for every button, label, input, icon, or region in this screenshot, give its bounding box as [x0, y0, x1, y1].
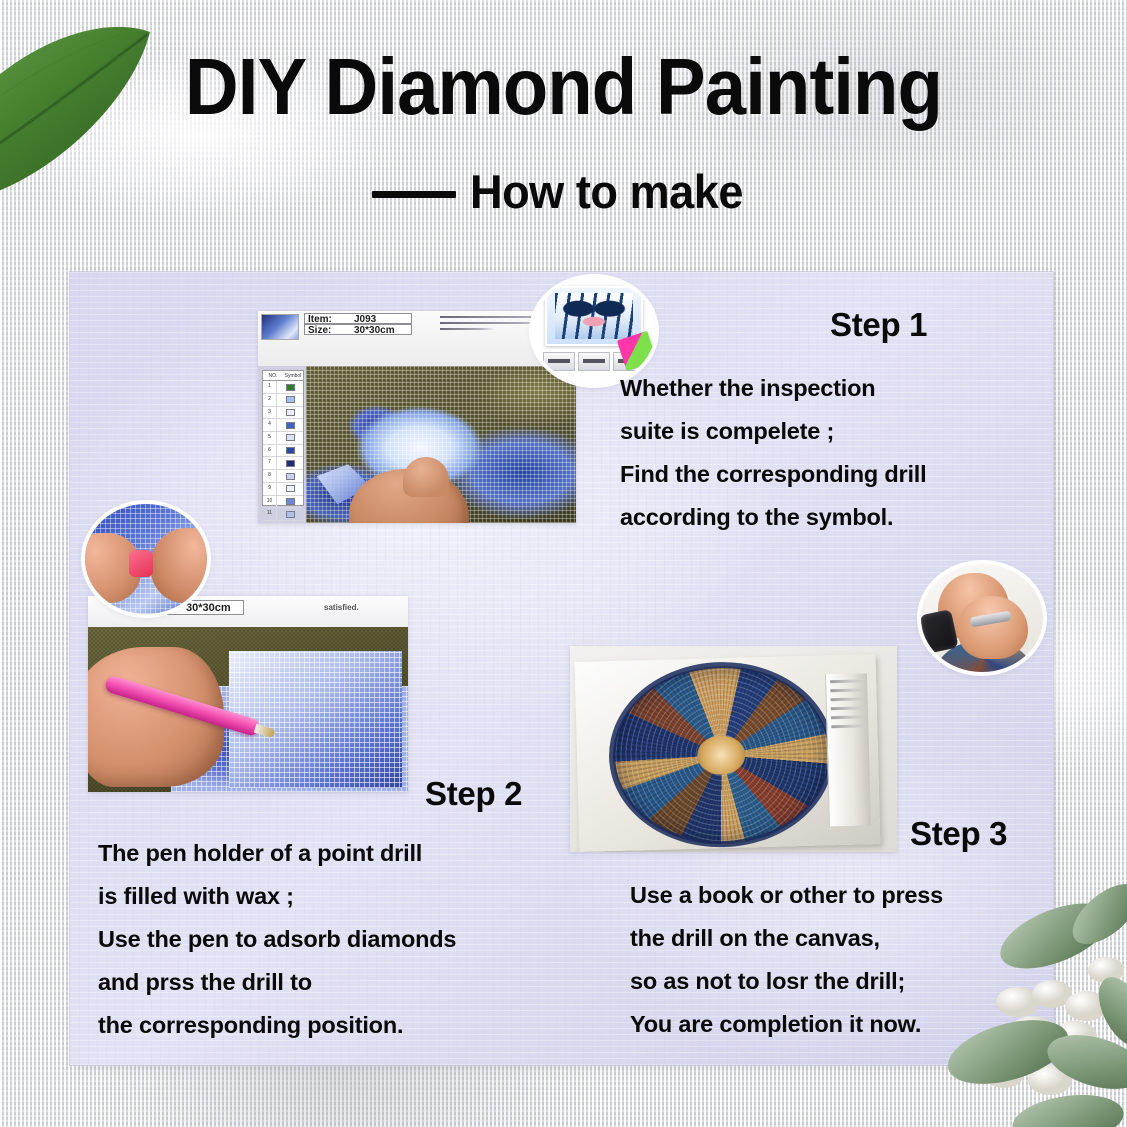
step-2-body: The pen holder of a point drill is fille… — [98, 832, 456, 1047]
step-1-line-1: Whether the inspection — [620, 367, 926, 410]
step-2-line-2: is filled with wax ; — [98, 875, 456, 918]
photo2-note: satisfied. — [324, 604, 359, 612]
photo-pen-on-canvas: Size: 30*30cm satisfied. — [88, 596, 408, 792]
step-3-line-4: You are completion it now. — [630, 1003, 943, 1046]
legend-row: 5 — [263, 432, 303, 445]
legend-row: 4 — [263, 419, 303, 432]
legend-index: 4 — [263, 419, 277, 431]
inset-press-book — [921, 564, 1043, 672]
legend-row: 11 — [263, 508, 303, 521]
legend-index: 9 — [263, 483, 277, 495]
photo1-header-sheet: Item: J093 Size: 30*30cm — [258, 311, 576, 366]
legend-index: 7 — [263, 457, 277, 469]
legend-row: 7 — [263, 457, 303, 470]
legend-col-symbol: Symbol — [283, 371, 303, 380]
item-label: Item: — [308, 315, 332, 325]
step-3-heading: Step 3 — [910, 817, 1007, 850]
item-value: J093 — [354, 315, 376, 325]
legend-index: 11 — [263, 508, 277, 520]
legend-index: 10 — [263, 496, 277, 508]
page-subtitle: How to make — [470, 168, 743, 215]
legend-row: 8 — [263, 470, 303, 483]
step-2-line-5: the corresponding position. — [98, 1004, 456, 1047]
legend-row: 9 — [263, 483, 303, 496]
insetB-wax-icon — [129, 550, 153, 576]
step-1-line-2: suite is compelete ; — [620, 410, 926, 453]
legend-index: 8 — [263, 470, 277, 482]
step-3-line-2: the drill on the canvas, — [630, 917, 943, 960]
legend-row: 2 — [263, 394, 303, 407]
step-1-heading: Step 1 — [830, 308, 927, 341]
step-1-line-4: according to the symbol. — [620, 496, 926, 539]
step-2-line-3: Use the pen to adsorb diamonds — [98, 918, 456, 961]
inset-wax-pen — [85, 504, 207, 614]
legend-index: 5 — [263, 432, 277, 444]
legend-header: NO. Symbol — [263, 371, 303, 381]
infographic-page: DIY Diamond Painting How to make Item: J… — [0, 0, 1127, 1127]
legend-col-no: NO. — [263, 371, 283, 380]
step-2-line-4: and prss the drill to — [98, 961, 456, 1004]
size-value: 30*30cm — [354, 326, 395, 336]
photo3-mandala-art — [610, 663, 831, 847]
legend-row: 6 — [263, 445, 303, 458]
photo-mandala-on-book — [570, 646, 897, 852]
em-dash-rule-icon — [372, 191, 456, 198]
step-3-line-3: so as not to losr the drill; — [630, 960, 943, 1003]
legend-index: 3 — [263, 407, 277, 419]
photo1-canvas — [306, 366, 576, 523]
photo3-book — [574, 654, 880, 851]
legend-row: 3 — [263, 407, 303, 420]
step-3-line-1: Use a book or other to press — [630, 874, 943, 917]
legend-index: 6 — [263, 445, 277, 457]
insetC-lower-hand — [958, 596, 1029, 659]
insetB-right-hand — [151, 528, 207, 603]
step-1-body: Whether the inspection suite is compelet… — [620, 367, 926, 539]
legend-index: 1 — [263, 381, 277, 393]
photo1-preview-thumbnail — [261, 314, 299, 340]
legend-row: 1 — [263, 381, 303, 394]
page-title: DIY Diamond Painting — [39, 47, 1087, 127]
step-3-body: Use a book or other to press the drill o… — [630, 874, 943, 1046]
legend-row: 10 — [263, 496, 303, 509]
step-2-heading: Step 2 — [425, 777, 522, 810]
size-label: Size: — [308, 326, 331, 336]
step-1-line-3: Find the corresponding drill — [620, 453, 926, 496]
subtitle-row: How to make — [0, 168, 1127, 215]
photo-kit-sheet: Item: J093 Size: 30*30cm NO. Symbol 1 2 … — [258, 311, 576, 523]
photo1-symbol-legend: NO. Symbol 1 2 3 4 5 6 7 8 9 10 11 — [262, 370, 304, 506]
succulent-decoration — [900, 874, 1127, 1127]
photo3-book-pages — [824, 674, 870, 827]
tiger-face-icon — [555, 293, 634, 340]
step-2-line-1: The pen holder of a point drill — [98, 832, 456, 875]
legend-index: 2 — [263, 394, 277, 406]
